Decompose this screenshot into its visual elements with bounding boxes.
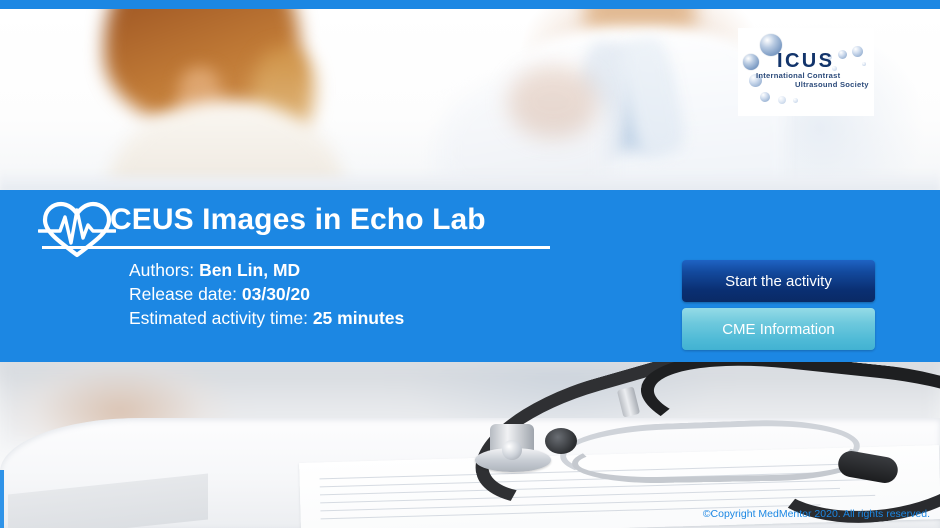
start-activity-button[interactable]: Start the activity [682,260,875,302]
stethoscope-knob-shape [502,440,522,460]
course-landing-page: ICUS International Contrast Ultrasound S… [0,0,940,528]
icus-logo[interactable]: ICUS International Contrast Ultrasound S… [738,28,874,116]
logo-subtitle-line1: International Contrast [756,71,840,80]
metadata-row-authors: Authors: Ben Lin, MD [129,258,404,282]
logo-bubble-icon [743,54,759,70]
release-date-label: Release date: [129,284,237,304]
left-accent-strip [0,470,4,528]
bottom-hero-photo [0,362,940,528]
logo-subtitle-line2: Ultrasound Society [795,80,869,89]
authors-label: Authors: [129,260,194,280]
activity-time-label: Estimated activity time: [129,308,308,328]
top-accent-bar [0,0,940,9]
logo-bubble-icon [793,98,798,103]
metadata-row-activity-time: Estimated activity time: 25 minutes [129,306,404,330]
logo-bubble-icon [778,96,786,104]
heart-pulse-icon [38,198,116,260]
activity-metadata: Authors: Ben Lin, MD Release date: 03/30… [129,258,404,330]
copyright-text: ©Copyright MedMentor 2020. All rights re… [703,508,930,520]
logo-bubble-icon [760,92,770,102]
doctor-hand-shape [508,66,598,138]
desk-surface-shape [0,170,940,192]
stethoscope-binaural-shape [545,428,577,454]
logo-bubble-icon [838,50,847,59]
title-underline [42,246,550,249]
activity-time-value: 25 minutes [313,308,404,328]
logo-bubble-icon [862,62,866,66]
release-date-value: 03/30/20 [242,284,310,304]
logo-acronym: ICUS [777,50,834,73]
metadata-row-release-date: Release date: 03/30/20 [129,282,404,306]
authors-value: Ben Lin, MD [199,260,300,280]
logo-bubble-icon [852,46,863,57]
page-title: CEUS Images in Echo Lab [110,203,486,237]
cme-information-button[interactable]: CME Information [682,308,875,350]
